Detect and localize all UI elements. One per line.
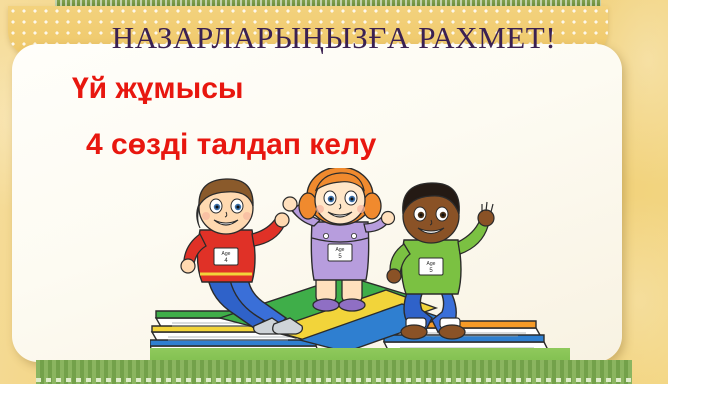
homework-task: 4 сөзді талдап келу: [86, 128, 376, 162]
homework-label: Үй жұмысы: [72, 72, 244, 106]
svg-text:Age: Age: [336, 247, 345, 253]
bottom-green-band: [36, 360, 632, 384]
svg-text:Age: Age: [222, 251, 231, 257]
children-books-illustration: Age 5: [150, 168, 570, 384]
slide-screenshot: НАЗАРЛАРЫҢЫЗҒА РАХМЕТ! Үй жұмысы 4 сөзді…: [0, 0, 720, 405]
page-title: НАЗАРЛАРЫҢЫЗҒА РАХМЕТ!: [0, 20, 668, 56]
presentation-slide: НАЗАРЛАРЫҢЫЗҒА РАХМЕТ! Үй жұмысы 4 сөзді…: [0, 0, 668, 384]
svg-text:Age: Age: [427, 261, 436, 267]
